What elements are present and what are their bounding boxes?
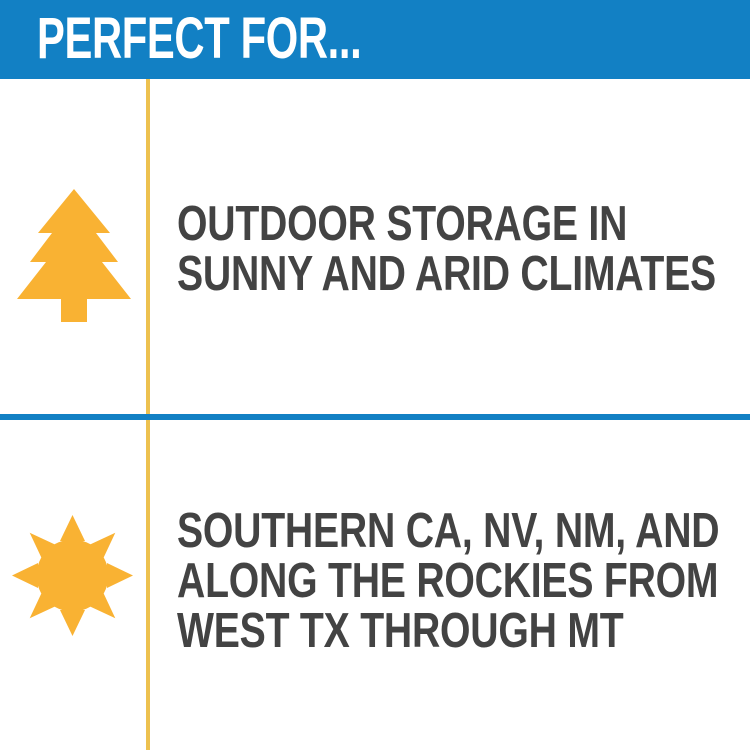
row-1-text-cell: OUTDOOR STORAGE IN SUNNY AND ARID CLIMAT…: [177, 199, 742, 299]
list-item: SOUTHERN CA, NV, NM, AND ALONG THE ROCKI…: [0, 420, 750, 750]
row-2-headline: SOUTHERN CA, NV, NM, AND ALONG THE ROCKI…: [177, 506, 742, 656]
list-item: OUTDOOR STORAGE IN SUNNY AND ARID CLIMAT…: [0, 79, 750, 414]
infographic-panel: PERFECT FOR... OUTDOOR STORAGE IN SUNNY …: [0, 0, 750, 750]
page-title: PERFECT FOR...: [37, 8, 361, 70]
sun-icon: [12, 515, 133, 636]
evergreen-tree-icon: [17, 189, 131, 322]
headline-line: WEST TX THROUGH MT: [177, 606, 629, 656]
headline-line: OUTDOOR STORAGE IN: [177, 199, 629, 249]
row-2-icon-cell: [0, 420, 146, 750]
header-bar: PERFECT FOR...: [0, 0, 750, 79]
row-1-headline: OUTDOOR STORAGE IN SUNNY AND ARID CLIMAT…: [177, 199, 742, 299]
headline-line: ALONG THE ROCKIES FROM: [177, 556, 629, 606]
headline-line: SOUTHERN CA, NV, NM, AND: [177, 506, 629, 556]
headline-line: SUNNY AND ARID CLIMATES: [177, 249, 629, 299]
row-1-icon-cell: [0, 79, 146, 414]
row-2-text-cell: SOUTHERN CA, NV, NM, AND ALONG THE ROCKI…: [177, 506, 742, 656]
